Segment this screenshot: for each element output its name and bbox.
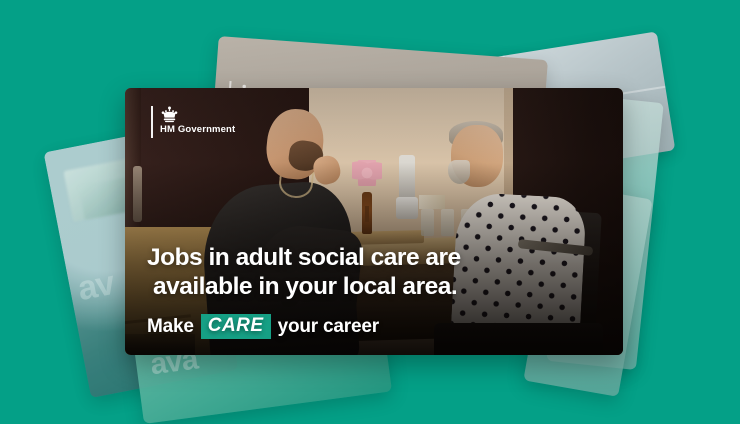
headline-line-2: available in your local area.	[147, 273, 603, 301]
strapline-suffix: your career	[278, 316, 379, 338]
advert-copy: Jobs in adult social care are available …	[147, 244, 603, 339]
background-card-left-ghost-text: av	[75, 264, 118, 309]
hm-government-label: HM Government	[160, 125, 235, 135]
hm-government-logo: HM Government	[151, 106, 235, 138]
strapline: Make CARE your career	[147, 314, 603, 339]
advert-canvas: av ava	[0, 0, 740, 416]
strapline-prefix: Make	[147, 316, 194, 338]
logo-rule	[151, 106, 153, 138]
headline-line-1: Jobs in adult social care are	[147, 244, 461, 271]
crown-icon	[160, 106, 179, 123]
hero-advert-card[interactable]: HM Government Jobs in adult social care …	[125, 88, 623, 355]
headline: Jobs in adult social care are available …	[147, 244, 603, 301]
care-highlight: CARE	[201, 314, 271, 339]
